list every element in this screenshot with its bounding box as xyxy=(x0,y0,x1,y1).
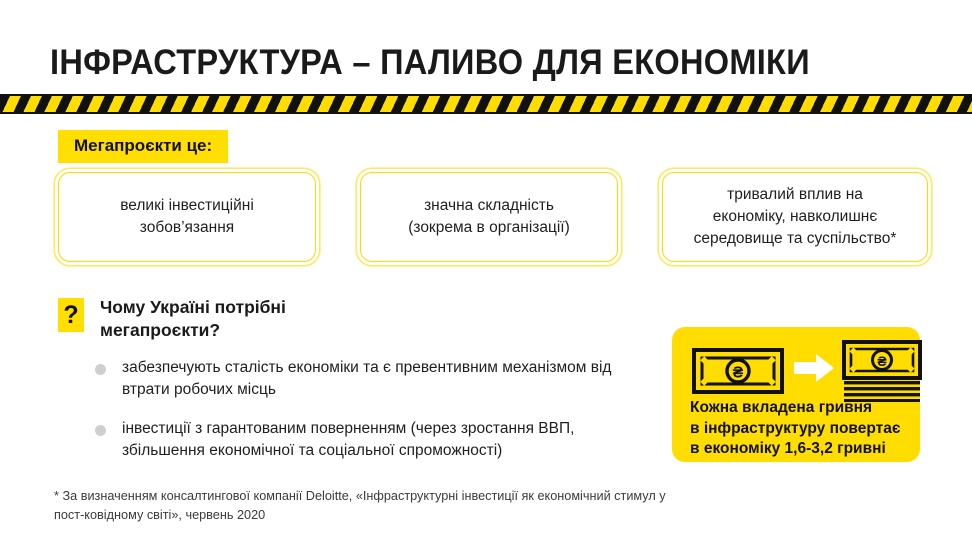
svg-text:₴: ₴ xyxy=(733,365,744,382)
question-block: ? Чому Україні потрібнімегапроєкти? xyxy=(58,296,618,342)
list-item: інвестиції з гарантованим поверненням (ч… xyxy=(95,418,640,462)
feature-box-text: великі інвестиційнізобов’язання xyxy=(120,195,254,239)
svg-text:₴: ₴ xyxy=(877,353,887,369)
page-title: ІНФРАСТРУКТУРА – ПАЛИВО ДЛЯ ЕКОНОМІКИ xyxy=(50,44,868,82)
banknote-stack-icon: ₴ xyxy=(842,340,922,407)
feature-box-row: великі інвестиційнізобов’язання значна с… xyxy=(58,172,928,262)
question-heading: Чому Україні потрібнімегапроєкти? xyxy=(100,296,618,342)
question-mark-icon: ? xyxy=(58,298,84,332)
hazard-stripe-divider xyxy=(0,94,972,114)
footnote: * За визначенням консалтингової компанії… xyxy=(54,487,694,526)
feature-box-impact: тривалий вплив наекономіку, навколишнєсе… xyxy=(662,172,928,262)
feature-box-text: значна складність(зокрема в організації) xyxy=(408,195,570,239)
callout-text: Кожна вкладена гривняв інфраструктуру по… xyxy=(690,398,920,460)
megaprojects-badge: Мегапроєкти це: xyxy=(58,130,228,163)
benefits-list: забезпечують сталість економіки та є пре… xyxy=(95,357,640,462)
bullet-dot-icon xyxy=(95,364,106,375)
list-item: забезпечують сталість економіки та є пре… xyxy=(95,357,640,401)
bullet-dot-icon xyxy=(95,425,106,436)
arrow-right-icon xyxy=(794,354,834,387)
list-item-text: інвестиції з гарантованим поверненням (ч… xyxy=(122,420,574,459)
money-return-callout: ₴ ₴ xyxy=(672,327,920,462)
feature-box-text: тривалий вплив наекономіку, навколишнєсе… xyxy=(694,184,897,250)
list-item-text: забезпечують сталість економіки та є пре… xyxy=(122,359,611,398)
feature-box-complexity: значна складність(зокрема в організації) xyxy=(360,172,618,262)
money-icon-group: ₴ ₴ xyxy=(690,340,906,392)
banknote-icon: ₴ xyxy=(692,348,784,399)
feature-box-investment: великі інвестиційнізобов’язання xyxy=(58,172,316,262)
slide-root: ІНФРАСТРУКТУРА – ПАЛИВО ДЛЯ ЕКОНОМІКИ Ме… xyxy=(0,0,972,547)
